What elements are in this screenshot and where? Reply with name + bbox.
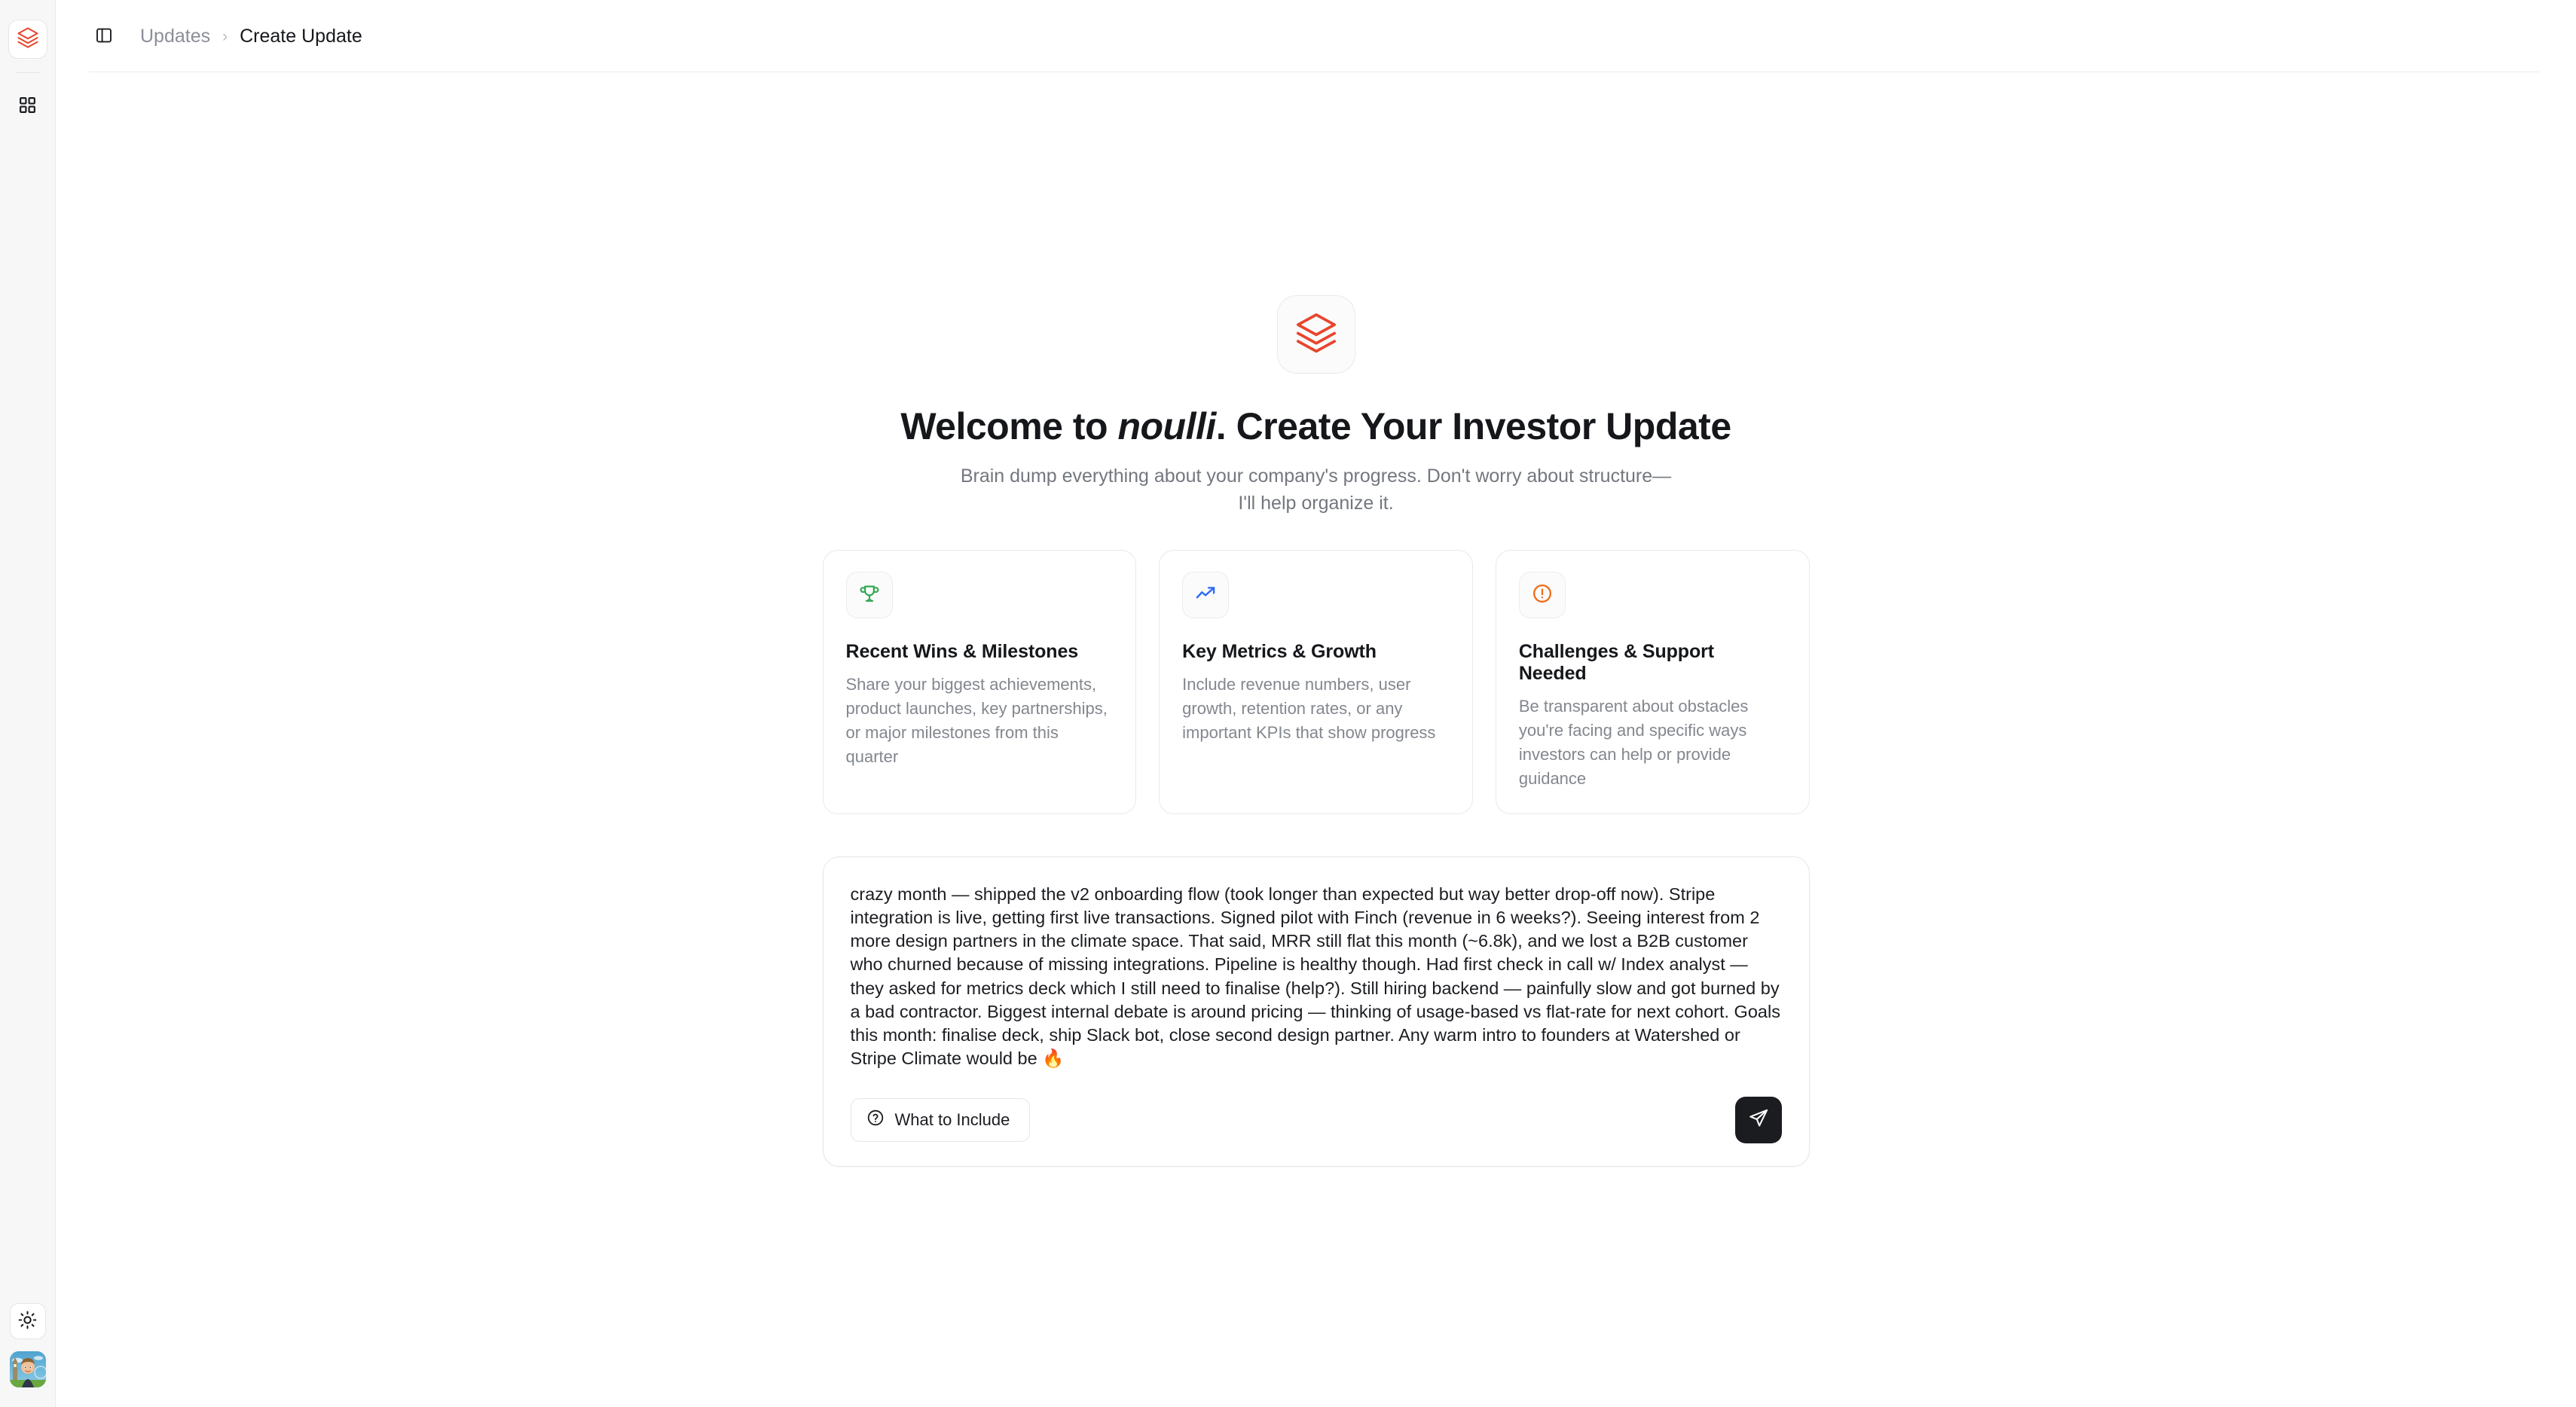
card-challenges[interactable]: Challenges & Support Needed Be transpare…	[1496, 550, 1810, 814]
card-icon-tile	[1182, 572, 1229, 618]
layout-grid-icon	[18, 96, 37, 117]
card-title: Challenges & Support Needed	[1519, 641, 1786, 685]
card-title: Recent Wins & Milestones	[846, 641, 1114, 663]
breadcrumb-current: Create Update	[240, 26, 362, 47]
alert-circle-icon	[1532, 583, 1553, 608]
send-button[interactable]	[1735, 1097, 1782, 1143]
card-title: Key Metrics & Growth	[1182, 641, 1450, 663]
what-to-include-button[interactable]: What to Include	[851, 1098, 1031, 1142]
card-icon-tile	[1519, 572, 1566, 618]
page-subtitle: Brain dump everything about your company…	[955, 462, 1678, 517]
sidebar-divider	[16, 72, 40, 73]
topbar: Updates › Create Update	[56, 0, 2576, 72]
content-scroll-area: Welcome to noulli. Create Your Investor …	[56, 72, 2576, 1407]
layers-stack-icon	[17, 26, 39, 53]
send-icon	[1748, 1108, 1769, 1131]
sidebar-logo[interactable]	[8, 20, 47, 59]
main-area: Updates › Create Update	[56, 0, 2576, 1407]
sidebar-nav	[11, 90, 44, 123]
app-root: Updates › Create Update	[0, 0, 2576, 1407]
sidebar	[0, 0, 56, 1407]
sidebar-toggle-button[interactable]	[89, 21, 119, 51]
title-prefix: Welcome to	[900, 405, 1117, 447]
breadcrumb: Updates › Create Update	[140, 26, 362, 47]
update-textarea[interactable]: crazy month — shipped the v2 onboarding …	[824, 857, 1809, 1083]
card-icon-tile	[846, 572, 893, 618]
card-description: Be transparent about obstacles you're fa…	[1519, 694, 1786, 791]
guidance-cards: Recent Wins & Milestones Share your bigg…	[823, 550, 1810, 814]
card-key-metrics[interactable]: Key Metrics & Growth Include revenue num…	[1159, 550, 1473, 814]
composer-toolbar: What to Include	[824, 1083, 1809, 1166]
trending-up-icon	[1195, 583, 1216, 608]
sun-icon	[18, 1311, 37, 1332]
what-to-include-label: What to Include	[895, 1110, 1010, 1130]
breadcrumb-parent[interactable]: Updates	[140, 26, 210, 47]
sidebar-item-dashboard[interactable]	[11, 90, 44, 123]
brand-name: noulli	[1117, 405, 1215, 447]
card-description: Share your biggest achievements, product…	[846, 673, 1114, 769]
theme-toggle-button[interactable]	[10, 1303, 46, 1339]
update-composer: crazy month — shipped the v2 onboarding …	[823, 856, 1810, 1167]
breadcrumb-separator: ›	[222, 29, 228, 44]
layers-stack-icon	[1294, 311, 1338, 359]
title-suffix: . Create Your Investor Update	[1216, 405, 1731, 447]
hero-logo	[1277, 295, 1355, 374]
center-column: Welcome to noulli. Create Your Investor …	[823, 295, 1810, 1407]
page-title: Welcome to noulli. Create Your Investor …	[900, 405, 1731, 449]
trophy-icon	[859, 583, 880, 608]
panel-left-icon	[95, 26, 113, 47]
help-circle-icon	[866, 1109, 885, 1131]
card-description: Include revenue numbers, user growth, re…	[1182, 673, 1450, 745]
avatar-illustration	[10, 1351, 46, 1387]
card-recent-wins[interactable]: Recent Wins & Milestones Share your bigg…	[823, 550, 1137, 814]
user-avatar[interactable]	[10, 1351, 46, 1387]
sidebar-bottom	[10, 1303, 46, 1387]
